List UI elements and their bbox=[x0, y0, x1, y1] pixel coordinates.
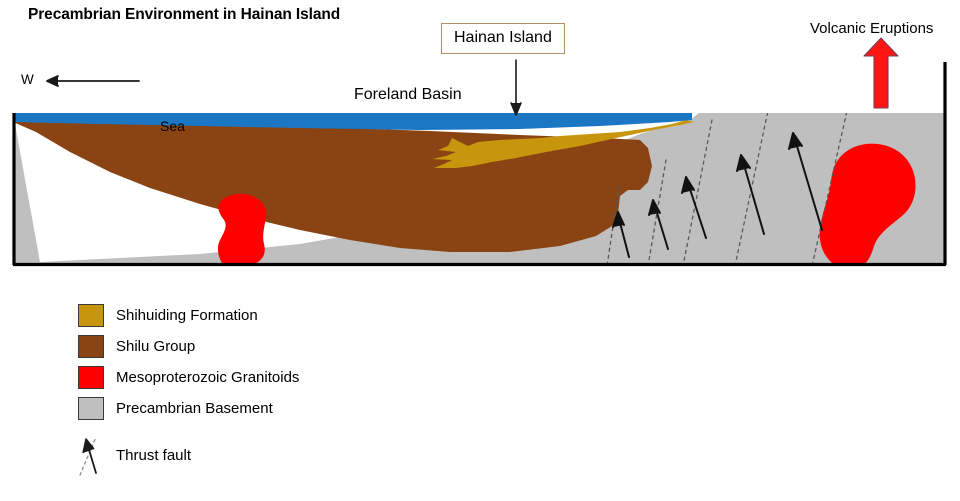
label-sea: Sea bbox=[160, 118, 185, 134]
label-west-direction: W bbox=[21, 72, 34, 87]
legend-item-basement: Precambrian Basement bbox=[78, 393, 498, 424]
granitoid-body-west bbox=[218, 194, 266, 266]
legend-symbol-thrust-fault bbox=[78, 433, 104, 477]
label-hainan-island: Hainan Island bbox=[441, 23, 565, 54]
legend: Shihuiding Formation Shilu Group Mesopro… bbox=[78, 300, 498, 478]
legend-item-shihuiding: Shihuiding Formation bbox=[78, 300, 498, 331]
figure-root: Precambrian Environment in Hainan Island bbox=[0, 0, 960, 501]
legend-label-basement: Precambrian Basement bbox=[116, 400, 273, 417]
legend-swatch-shihuiding bbox=[78, 304, 104, 327]
label-foreland-basin: Foreland Basin bbox=[354, 86, 462, 104]
legend-label-thrust-fault: Thrust fault bbox=[116, 447, 191, 464]
legend-item-shilu: Shilu Group bbox=[78, 331, 498, 362]
legend-swatch-shilu bbox=[78, 335, 104, 358]
legend-item-granitoids: Mesoproterozoic Granitoids bbox=[78, 362, 498, 393]
legend-swatch-basement bbox=[78, 397, 104, 420]
legend-label-shihuiding: Shihuiding Formation bbox=[116, 307, 258, 324]
legend-label-granitoids: Mesoproterozoic Granitoids bbox=[116, 369, 299, 386]
legend-swatch-granitoids bbox=[78, 366, 104, 389]
thrust-fault-icon bbox=[78, 433, 104, 477]
label-volcanic-eruptions: Volcanic Eruptions bbox=[810, 20, 933, 37]
legend-label-shilu: Shilu Group bbox=[116, 338, 195, 355]
legend-item-thrust-fault: Thrust fault bbox=[78, 432, 498, 478]
